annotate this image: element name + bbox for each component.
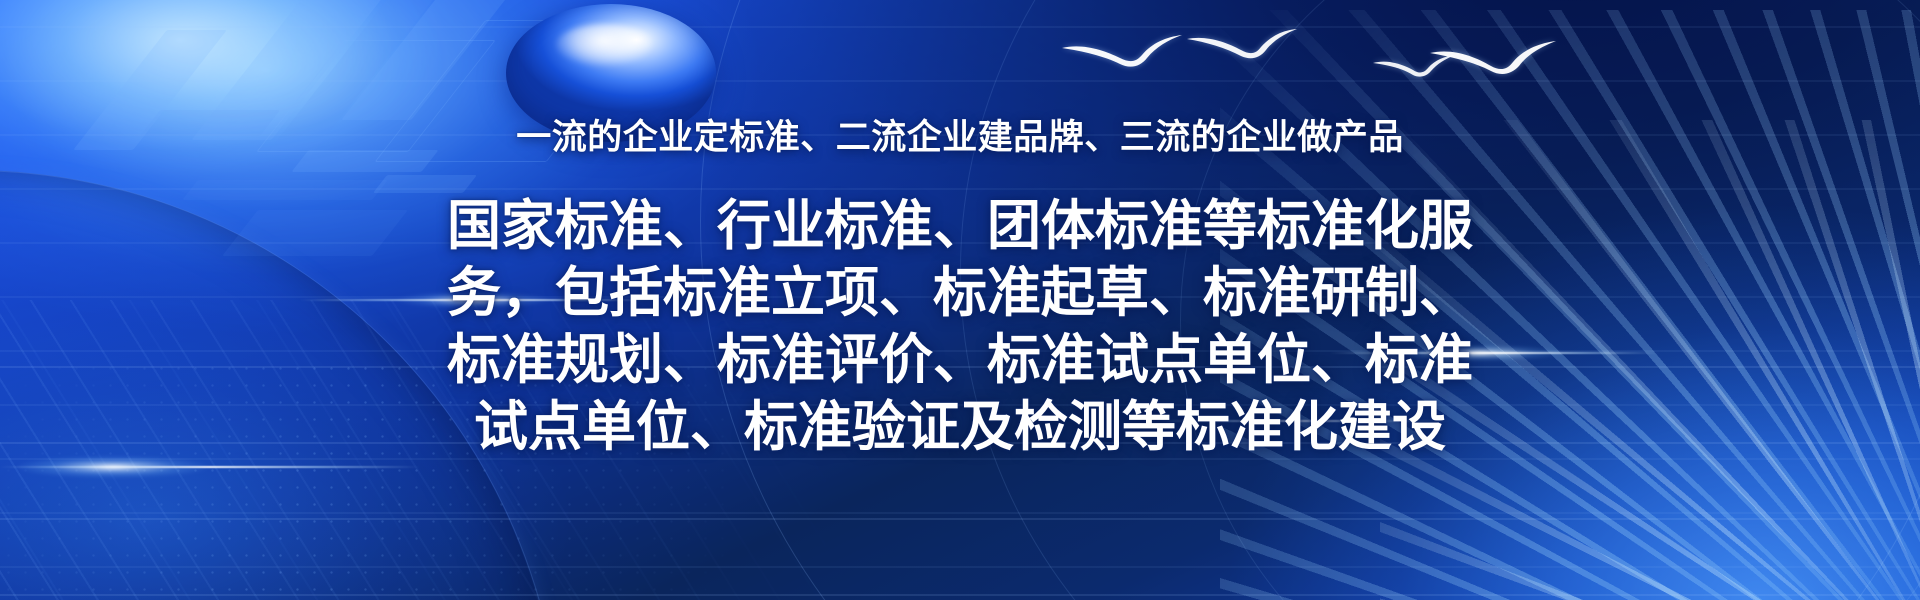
banner-body-copy: 国家标准、行业标准、团体标准等标准化服 务，包括标准立项、标准起草、标准研制、 …: [300, 192, 1620, 460]
banner-body-line-2: 务，包括标准立项、标准起草、标准研制、: [300, 259, 1620, 326]
promo-banner: 一流的企业定标准、二流企业建品牌、三流的企业做产品 国家标准、行业标准、团体标准…: [0, 0, 1920, 600]
banner-body-line-4: 试点单位、标准验证及检测等标准化建设: [300, 393, 1620, 460]
decorative-orb-specular-highlight: [556, 24, 652, 66]
seagull-icon-1: [1060, 34, 1184, 68]
seagull-icon-4: [1428, 40, 1558, 76]
banner-headline: 一流的企业定标准、二流企业建品牌、三流的企业做产品: [0, 116, 1920, 160]
banner-body-line-3: 标准规划、标准评价、标准试点单位、标准: [300, 326, 1620, 393]
decorative-parallelogram-7: [373, 175, 477, 193]
lens-flare-left-streak: [0, 466, 420, 468]
banner-body-line-1: 国家标准、行业标准、团体标准等标准化服: [300, 192, 1620, 259]
seagull-icon-2: [1186, 28, 1298, 60]
